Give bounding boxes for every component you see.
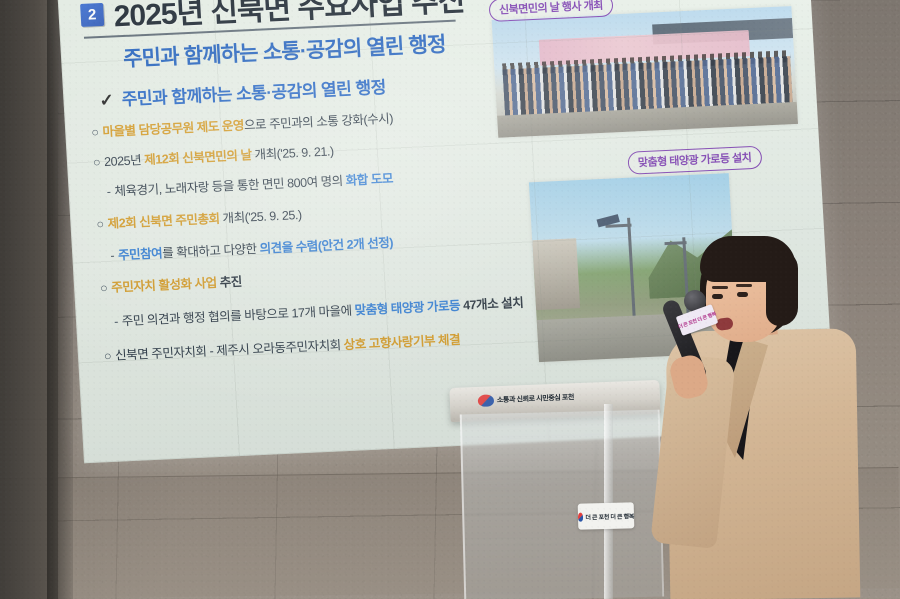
slide-bullet: ○2025년 제12회 신북면민의 날 개최('25. 9. 21.) (93, 145, 334, 169)
bullet-marker: ○ (91, 125, 99, 139)
slide-check-row: ✓ 주민과 함께하는 소통·공감의 열린 행정 (99, 73, 387, 111)
bullet-text-run: 화합 도모 (345, 172, 393, 188)
bullet-text-run: 주민 의견과 행정 협의를 바탕으로 17개 마을에 (121, 304, 355, 329)
podium-sign: 더 큰 포천 더 큰 행복 (578, 502, 635, 529)
bullet-text-run: 주민참여 (118, 246, 163, 262)
bullet-text-run: 2025년 (104, 153, 145, 169)
bullet-text-run: 주민자치 활성화 사업 (111, 276, 217, 295)
speaker-brow-left (712, 286, 728, 289)
bullet-text-run: 마을별 담당공무원 제도 운영 (102, 119, 244, 140)
bullet-text-run: 체육경기, 노래자랑 등을 통한 면민 800여 명의 (114, 174, 346, 199)
speaker-hair-side (766, 250, 798, 326)
speaker-eye-left (712, 294, 723, 299)
podium-emblem: 소통과 신뢰로 시민중심 포천 (478, 391, 575, 407)
bullet-marker: - (114, 315, 119, 329)
bullet-text-run: 47개소 설치 (460, 296, 524, 313)
slide-check-text: 주민과 함께하는 소통·공감의 열린 행정 (121, 73, 386, 110)
slide-number-badge: 2 (80, 2, 104, 26)
bullet-text-run: 개최('25. 9. 25.) (219, 208, 302, 226)
podium-glass-edge (604, 404, 613, 599)
check-icon: ✓ (99, 91, 114, 112)
slide-bullet: ○주민자치 활성화 사업 추진 (100, 276, 242, 295)
city-logo-icon (478, 394, 494, 407)
speaker-eye-right (737, 292, 748, 297)
bullet-text-run: 으로 주민과의 소통 강화(수시) (244, 112, 394, 133)
bullet-text-run: 를 확대하고 다양한 (162, 242, 260, 260)
bullet-marker: - (106, 185, 111, 199)
bullet-marker: ○ (96, 217, 104, 231)
slide-subtitle: 주민과 함께하는 소통·공감의 열린 행정 (122, 28, 446, 73)
bullet-text-run: 신북면 주민자치회 - 제주시 오라동주민자치회 (115, 338, 344, 363)
bullet-marker: ○ (104, 349, 112, 363)
bullet-text-run: 의견을 수렴(안건 2개 선정) (259, 236, 393, 256)
bullet-marker: ○ (100, 281, 108, 295)
callout-solar-label: 맞춤형 태양광 가로등 설치 (627, 146, 762, 175)
solar-pole-1 (627, 218, 636, 328)
solar-photo-building (532, 238, 580, 310)
slide-bullet: ○제2회 신북면 주민총회 개최('25. 9. 25.) (96, 209, 302, 231)
slide-bullet: -주민 의견과 행정 협의를 바탕으로 17개 마을에 맞춤형 태양광 가로등 … (114, 297, 524, 328)
bullet-marker: ○ (93, 155, 101, 169)
bullet-text-run: 개최('25. 9. 21.) (251, 144, 334, 162)
speaker-brow-right (736, 284, 752, 287)
slide-bullet: -체육경기, 노래자랑 등을 통한 면민 800여 명의 화합 도모 (106, 173, 393, 199)
bullet-marker: - (110, 249, 115, 263)
city-slogan-icon (578, 512, 584, 521)
slide-bullet: ○마을별 담당공무원 제도 운영으로 주민과의 소통 강화(수시) (91, 113, 393, 139)
slide-bullet: -주민참여를 확대하고 다양한 의견을 수렴(안건 2개 선정) (110, 237, 393, 263)
bullet-text-run: 맞춤형 태양광 가로등 (354, 299, 460, 318)
bullet-text-run: 추진 (216, 275, 242, 290)
bullet-text-run: 상호 고향사랑기부 체결 (343, 333, 460, 352)
event-photo (492, 6, 798, 138)
bullet-text-run: 제2회 신북면 주민총회 (107, 212, 220, 231)
podium-sign-text: 더 큰 포천 더 큰 행복 (585, 511, 634, 521)
podium-emblem-text: 소통과 신뢰로 시민중심 포천 (497, 392, 574, 405)
presentation-scene: 2 2025년 신북면 주요사업 추진 주민과 함께하는 소통·공감의 열린 행… (0, 0, 900, 599)
slide-bullet: ○신북면 주민자치회 - 제주시 오라동주민자치회 상호 고향사랑기부 체결 (104, 334, 461, 363)
bullet-text-run: 제12회 신북면민의 날 (144, 148, 252, 167)
